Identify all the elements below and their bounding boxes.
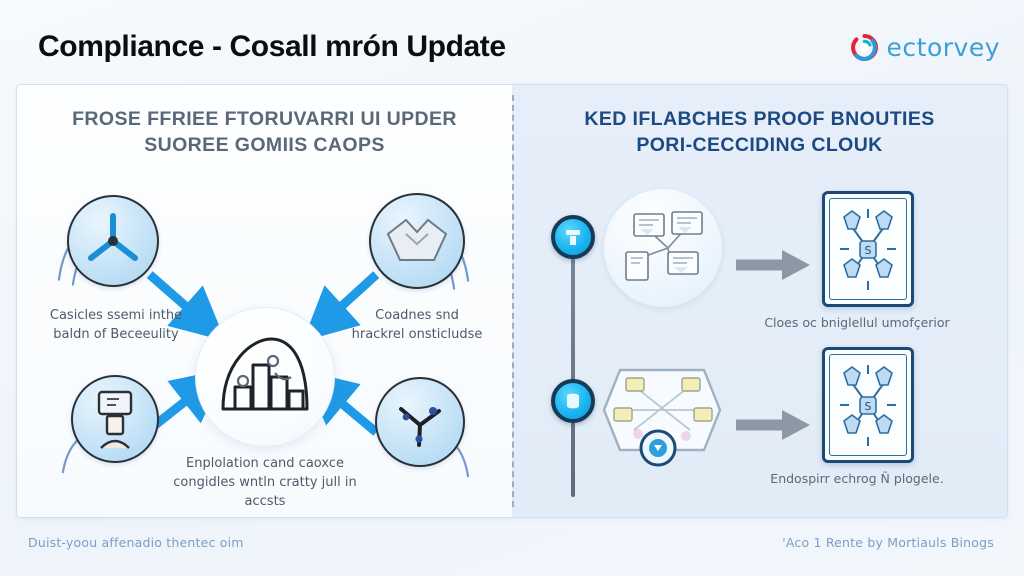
hub-node-shield-burst-caption: Coadnes snd hrackrel onsticludse (347, 307, 487, 345)
flow-cluster-documents[interactable] (604, 189, 722, 307)
hub-node-network[interactable] (375, 377, 465, 467)
right-panel: KED IFLABCHES PROOF BNOUTIES PORI-CECCID… (512, 85, 1007, 517)
svg-text:S: S (865, 244, 872, 257)
hex-network-icon (594, 352, 730, 468)
brand-logo: ectorvey (851, 33, 1000, 62)
hub-node-person-monitor[interactable] (71, 375, 159, 463)
tri-radial-icon (82, 210, 144, 272)
network-node-icon (389, 391, 451, 453)
brand-name: ectorvey (887, 33, 1000, 62)
database-dot-icon (563, 391, 583, 411)
flow-arrow-2 (734, 405, 814, 445)
hub-node-tri-radial-caption: Casicles ssemi inthe baldn of Beceeulity (41, 307, 191, 345)
right-heading-line2: PORI-CECCIDING CLOUK (532, 133, 987, 159)
flow-caption-1: Cloes oc bniglellul umofçerior (712, 315, 1002, 330)
flow-arrow-1 (734, 245, 814, 285)
page-title: Compliance - Cosall mrón Update (38, 30, 506, 64)
flow-card-1[interactable]: S (822, 191, 914, 307)
flow-node-database[interactable] (551, 379, 595, 423)
panel-divider (512, 95, 514, 507)
footer-left: Duist-yoou affenadio thentec oim (28, 535, 244, 550)
brand-swirl-icon (851, 34, 878, 61)
right-heading-line1: KED IFLABCHES PROOF BNOUTIES (532, 107, 987, 133)
slide-root: Compliance - Cosall mrón Update ectorvey… (0, 0, 1024, 576)
flow-card-2[interactable]: S (822, 347, 914, 463)
hub-center-node[interactable] (195, 307, 335, 447)
svg-text:S: S (865, 400, 872, 413)
person-monitor-icon (87, 388, 143, 450)
document-cluster-icon (610, 196, 716, 300)
server-dot-icon (563, 227, 583, 247)
flow-card-2-inner: S (829, 354, 907, 456)
hub-center-caption: Enplolation cand caoxce congidles wntln … (167, 455, 363, 512)
flow-caption-2: Endospirr echrog Ñ plogele. (712, 471, 1002, 486)
hub-node-tri-radial[interactable] (67, 195, 159, 287)
network-card-icon: S (834, 359, 902, 451)
flow-node-server[interactable] (551, 215, 595, 259)
slide-header: Compliance - Cosall mrón Update ectorvey (38, 22, 1000, 72)
bar-chart-icon (213, 331, 317, 423)
footer-right: 'Aco 1 Rente by Mortiauls Binogs (782, 535, 994, 550)
left-panel: FROSE FFRIEE FTORUVARRI UI UPDER SUOREE … (17, 85, 512, 517)
network-card-icon: S (834, 203, 902, 295)
flow-cluster-hex[interactable] (592, 351, 732, 469)
flow-card-1-inner: S (829, 198, 907, 300)
right-panel-heading: KED IFLABCHES PROOF BNOUTIES PORI-CECCID… (532, 107, 987, 158)
content-card: FROSE FFRIEE FTORUVARRI UI UPDER SUOREE … (16, 84, 1008, 518)
flow-row-2: S Endospirr echrog Ñ plogele. (512, 357, 1007, 507)
flow-row-1: S Cloes oc bniglellul umofçerior (512, 193, 1007, 343)
hub-node-shield-burst[interactable] (369, 193, 465, 289)
shield-burst-icon (382, 214, 452, 268)
hub-diagram: Enplolation cand caoxce congidles wntln … (17, 85, 512, 517)
